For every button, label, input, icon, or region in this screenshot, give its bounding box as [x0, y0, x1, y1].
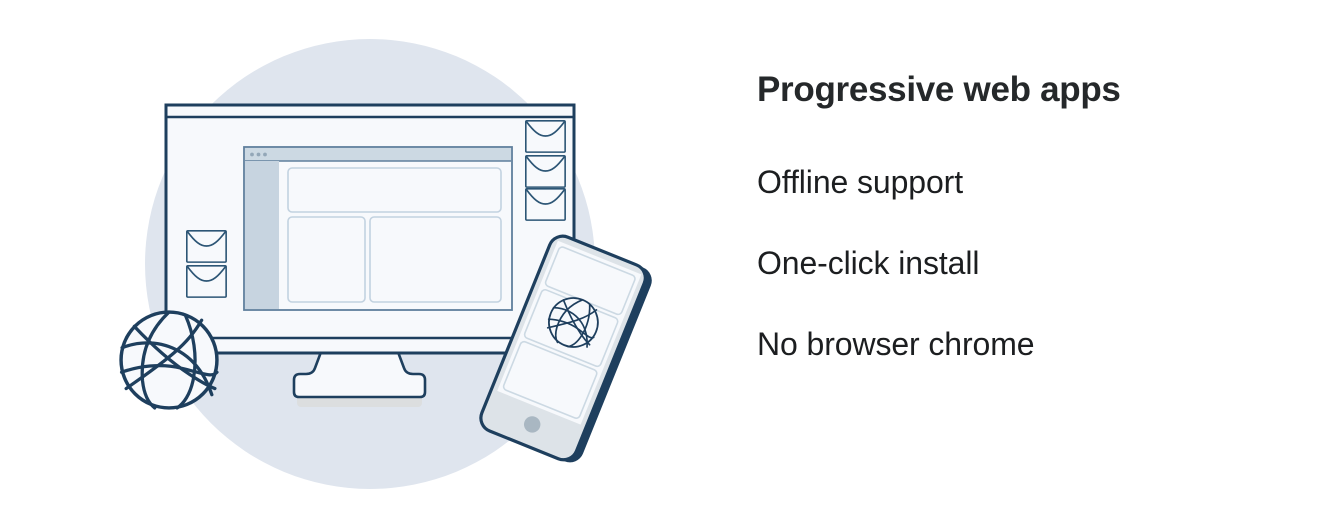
browser-window: [244, 147, 512, 310]
list-item-no-browser-chrome: No browser chrome: [757, 328, 1035, 360]
feature-list: Offline support One-click install No bro…: [757, 166, 1035, 360]
window-dot: [263, 153, 267, 157]
globe-icon: [121, 312, 217, 408]
browser-panel-left: [288, 217, 365, 302]
envelope-icon: [526, 121, 565, 152]
window-dot: [257, 153, 261, 157]
browser-title-bar: [245, 148, 511, 161]
envelope-icon: [526, 189, 565, 220]
window-dot: [250, 153, 254, 157]
envelope-icon: [526, 156, 565, 187]
browser-sidebar: [245, 161, 279, 309]
browser-panel-right: [370, 217, 501, 302]
list-item-one-click-install: One-click install: [757, 247, 1035, 279]
envelope-icon: [187, 231, 226, 262]
browser-panel-top: [288, 168, 501, 212]
list-item-offline-support: Offline support: [757, 166, 1035, 198]
page-root: Progressive web apps Offline support One…: [0, 0, 1320, 506]
page-title: Progressive web apps: [757, 72, 1121, 107]
progressive-web-apps-illustration: [0, 0, 700, 506]
text-panel: Progressive web apps Offline support One…: [757, 0, 1297, 506]
envelope-icon: [187, 266, 226, 297]
